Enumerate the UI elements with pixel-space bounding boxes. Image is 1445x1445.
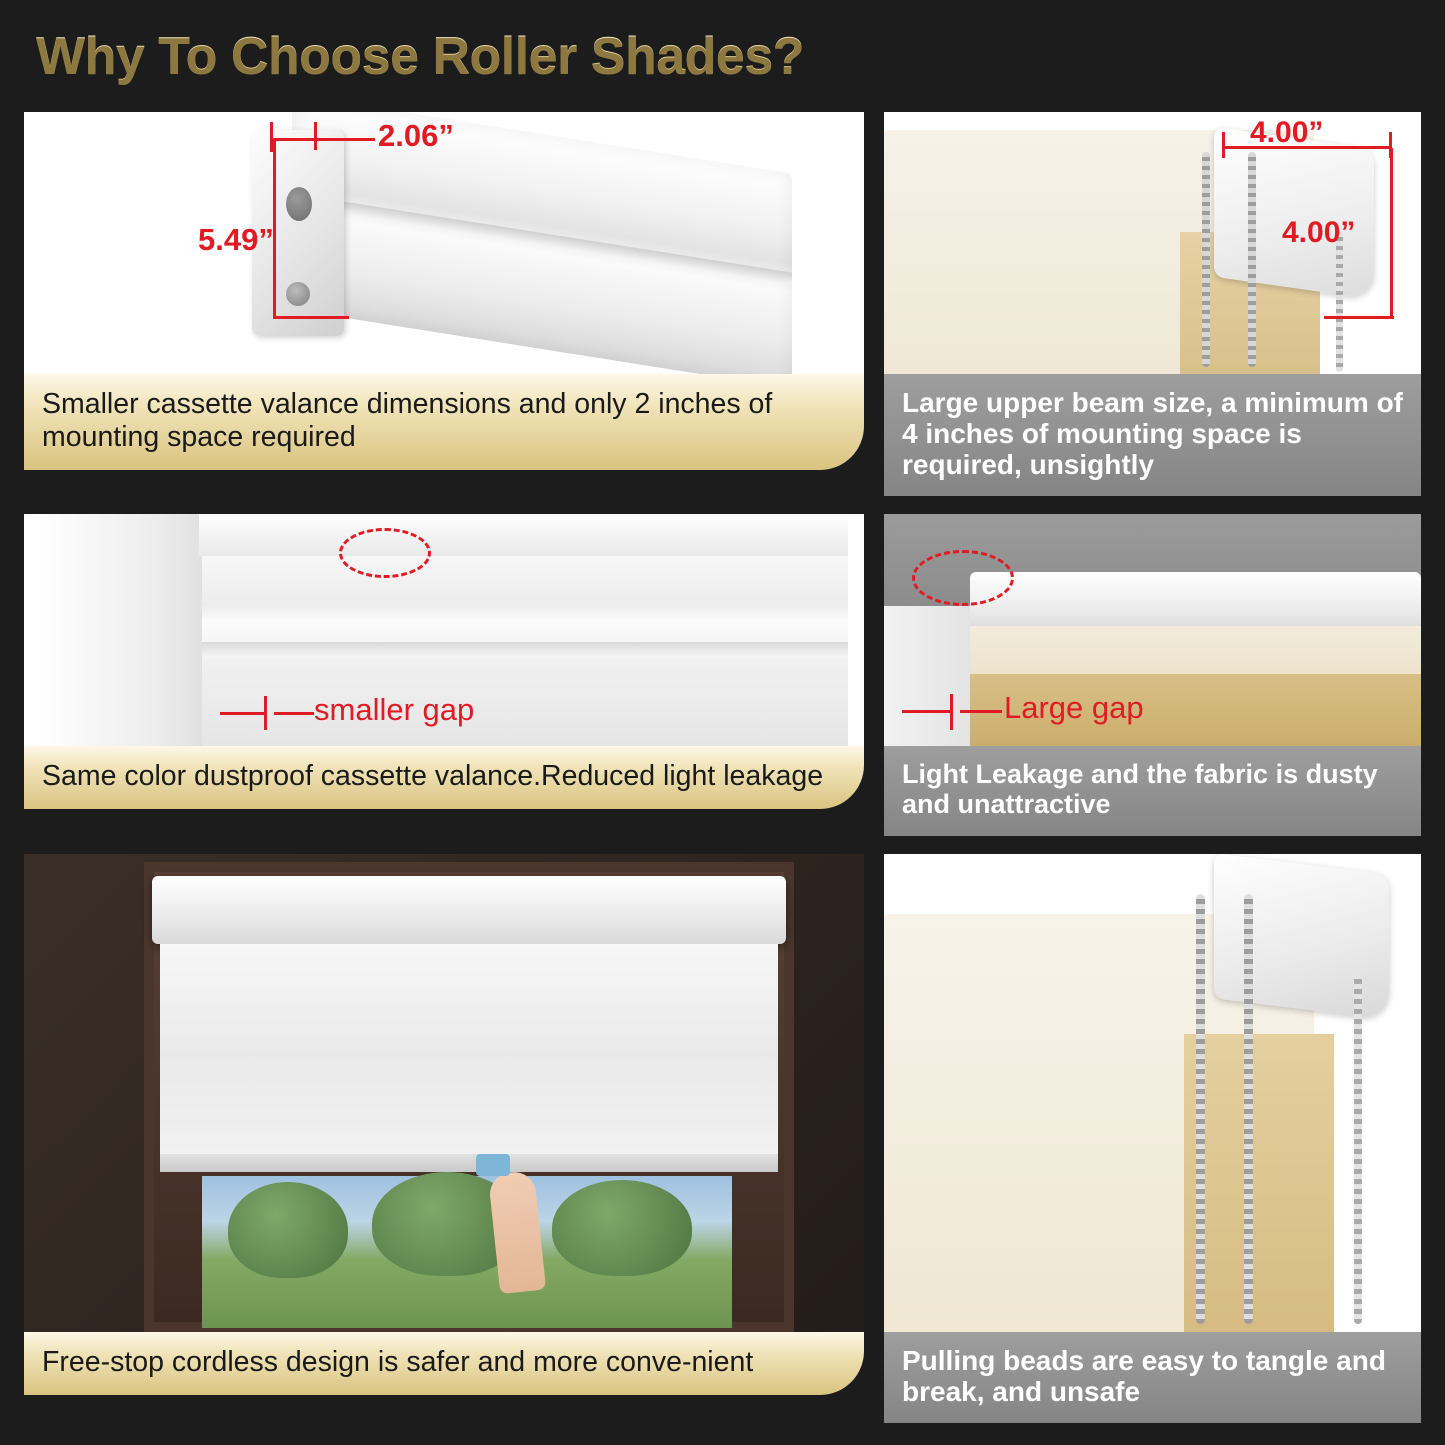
card-row-1: 2.06” 5.49” Smaller cassette valance dim… xyxy=(24,112,1421,496)
endcap-screw xyxy=(286,282,310,306)
infographic-page: Why To Choose Roller Shades? 2.06” xyxy=(0,0,1445,1445)
card-cassette-valance: 2.06” 5.49” Smaller cassette valance dim… xyxy=(24,112,864,496)
caption-pulling-beads: Pulling beads are easy to tangle and bre… xyxy=(884,1332,1421,1424)
window-head xyxy=(199,514,848,556)
bead-chain-1 xyxy=(1196,894,1205,1324)
bead-chain-2 xyxy=(1244,894,1253,1324)
caption-light-leakage: Light Leakage and the fabric is dusty an… xyxy=(884,746,1421,835)
card-pulling-beads: Pulling beads are easy to tangle and bre… xyxy=(884,854,1421,1424)
upper-beam xyxy=(1214,854,1389,1020)
width-dimension-label: 2.06” xyxy=(378,118,454,154)
width-dim-line xyxy=(270,138,375,141)
window-jamb xyxy=(36,514,211,746)
photo-light-leakage: Large gap xyxy=(884,514,1421,746)
pull-cord xyxy=(1354,974,1362,1324)
upper-beam xyxy=(1214,127,1374,299)
endcap-hole xyxy=(286,187,312,221)
tree-shape xyxy=(228,1182,348,1278)
tree-shape xyxy=(552,1180,692,1276)
card-light-leakage: Large gap Light Leakage and the fabric i… xyxy=(884,514,1421,835)
large-gap-label: Large gap xyxy=(1004,690,1144,726)
caption-large-upper-beam: Large upper beam size, a minimum of 4 in… xyxy=(884,374,1421,496)
card-row-2: smaller gap Same color dustproof cassett… xyxy=(24,514,1421,835)
height-dimension-label: 5.49” xyxy=(198,222,274,258)
photo-pulling-beads xyxy=(884,854,1421,1332)
shade-fabric-accent xyxy=(1184,1034,1334,1332)
gap-marker-line xyxy=(950,694,953,730)
gap-arrow-right xyxy=(960,710,1002,713)
pull-cord xyxy=(1336,232,1343,372)
photo-dustproof-cassette: smaller gap xyxy=(24,514,864,746)
gap-arrow-right xyxy=(274,712,314,715)
caption-cassette-valance: Smaller cassette valance dimensions and … xyxy=(24,374,864,470)
height-dim-line2 xyxy=(273,316,349,319)
bead-chain-1 xyxy=(1202,152,1210,367)
card-cordless-design: Free-stop cordless design is safer and m… xyxy=(24,854,864,1424)
shade-handle xyxy=(476,1154,510,1176)
card-grid: 2.06” 5.49” Smaller cassette valance dim… xyxy=(24,112,1421,1441)
shade-rail xyxy=(202,642,848,658)
photo-cordless-design xyxy=(24,854,864,1332)
cassette-valance xyxy=(152,876,786,944)
card-row-3: Free-stop cordless design is safer and m… xyxy=(24,854,1421,1424)
beam-width-tick-left xyxy=(1222,132,1225,158)
width-dim-tick-right xyxy=(314,122,317,150)
highlight-ellipse xyxy=(912,550,1014,606)
fabric-upper xyxy=(970,626,1421,678)
valance-body xyxy=(292,112,792,374)
shade-body xyxy=(160,944,778,1164)
gap-marker-line xyxy=(264,696,267,730)
bead-chain-2 xyxy=(1248,152,1256,367)
card-dustproof-cassette: smaller gap Same color dustproof cassett… xyxy=(24,514,864,835)
beam-depth-tick xyxy=(1324,316,1394,319)
photo-large-upper-beam: 4.00” 4.00” xyxy=(884,112,1421,374)
beam-depth-dim-line xyxy=(1390,148,1393,318)
bottom-rail xyxy=(160,1154,778,1172)
beam-depth-label: 4.00” xyxy=(1282,216,1355,250)
gap-arrow-left xyxy=(220,712,264,715)
gap-arrow-left xyxy=(902,710,950,713)
side-wall xyxy=(884,606,976,746)
window-glass xyxy=(202,1176,732,1328)
card-large-upper-beam: 4.00” 4.00” Large upper beam size, a min… xyxy=(884,112,1421,496)
smaller-gap-label: smaller gap xyxy=(314,692,474,728)
caption-dustproof-cassette: Same color dustproof cassette valance.Re… xyxy=(24,746,864,809)
caption-cordless-design: Free-stop cordless design is safer and m… xyxy=(24,1332,864,1395)
page-title: Why To Choose Roller Shades? xyxy=(36,26,804,86)
photo-cassette-valance: 2.06” 5.49” xyxy=(24,112,864,374)
beam-width-label: 4.00” xyxy=(1250,116,1323,150)
